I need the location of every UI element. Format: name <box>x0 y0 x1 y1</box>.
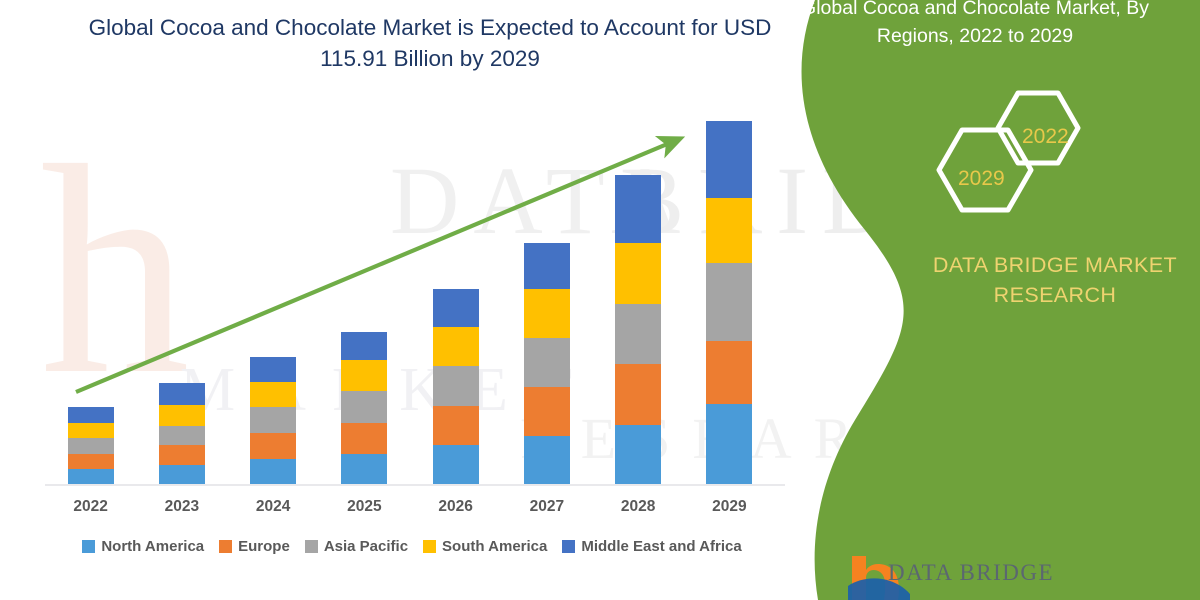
bar-2023[interactable] <box>159 383 205 485</box>
legend-swatch-icon <box>82 540 95 553</box>
segment-asia-pacific[interactable] <box>159 426 205 446</box>
legend-item-south-america[interactable]: South America <box>423 538 547 555</box>
legend-label: Europe <box>238 538 290 555</box>
bar-2028[interactable] <box>615 175 661 485</box>
segment-north-america[interactable] <box>341 454 387 485</box>
segment-south-america[interactable] <box>250 382 296 407</box>
x-axis-line <box>45 484 785 486</box>
segment-europe[interactable] <box>615 364 661 424</box>
segment-europe[interactable] <box>250 433 296 459</box>
hexagon-pair <box>920 85 1120 225</box>
segment-south-america[interactable] <box>706 198 752 264</box>
bar-2025[interactable] <box>341 332 387 485</box>
segment-north-america[interactable] <box>159 465 205 485</box>
segment-north-america[interactable] <box>250 459 296 485</box>
bar-2022[interactable] <box>68 407 114 485</box>
segment-south-america[interactable] <box>524 289 570 338</box>
legend-label: Middle East and Africa <box>581 538 741 555</box>
segment-asia-pacific[interactable] <box>68 438 114 454</box>
legend-item-asia-pacific[interactable]: Asia Pacific <box>305 538 408 555</box>
segment-north-america[interactable] <box>615 425 661 485</box>
segment-europe[interactable] <box>524 387 570 436</box>
segment-europe[interactable] <box>159 445 205 465</box>
segment-asia-pacific[interactable] <box>706 263 752 341</box>
segment-middle-east-and-africa[interactable] <box>341 332 387 360</box>
legend-swatch-icon <box>305 540 318 553</box>
segment-europe[interactable] <box>341 423 387 454</box>
x-label-2026: 2026 <box>416 498 496 516</box>
segment-asia-pacific[interactable] <box>341 391 387 422</box>
chart-legend: North AmericaEuropeAsia PacificSouth Ame… <box>42 538 782 555</box>
segment-north-america[interactable] <box>706 404 752 485</box>
legend-label: South America <box>442 538 547 555</box>
bar-2029[interactable] <box>706 121 752 485</box>
segment-south-america[interactable] <box>615 243 661 303</box>
segment-north-america[interactable] <box>433 445 479 485</box>
segment-south-america[interactable] <box>341 360 387 391</box>
segment-europe[interactable] <box>706 341 752 404</box>
legend-swatch-icon <box>219 540 232 553</box>
segment-asia-pacific[interactable] <box>524 338 570 387</box>
segment-middle-east-and-africa[interactable] <box>250 357 296 382</box>
x-label-2024: 2024 <box>233 498 313 516</box>
legend-item-north-america[interactable]: North America <box>82 538 204 555</box>
x-label-2023: 2023 <box>142 498 222 516</box>
segment-asia-pacific[interactable] <box>250 407 296 433</box>
segment-south-america[interactable] <box>159 405 205 426</box>
legend-label: North America <box>101 538 204 555</box>
hexagon-2029-label: 2029 <box>958 167 1005 191</box>
segment-middle-east-and-africa[interactable] <box>615 175 661 244</box>
bar-2027[interactable] <box>524 243 570 485</box>
segment-middle-east-and-africa[interactable] <box>68 407 114 423</box>
x-label-2027: 2027 <box>507 498 587 516</box>
segment-europe[interactable] <box>68 454 114 470</box>
x-label-2022: 2022 <box>51 498 131 516</box>
bar-2026[interactable] <box>433 289 479 485</box>
panel-heading: Global Cocoa and Chocolate Market, By Re… <box>775 0 1175 50</box>
segment-europe[interactable] <box>433 406 479 446</box>
segment-middle-east-and-africa[interactable] <box>706 121 752 197</box>
segment-middle-east-and-africa[interactable] <box>433 289 479 327</box>
segment-asia-pacific[interactable] <box>615 304 661 364</box>
bar-2024[interactable] <box>250 357 296 485</box>
legend-swatch-icon <box>562 540 575 553</box>
legend-item-middle-east-and-africa[interactable]: Middle East and Africa <box>562 538 741 555</box>
segment-south-america[interactable] <box>433 327 479 367</box>
legend-label: Asia Pacific <box>324 538 408 555</box>
segment-middle-east-and-africa[interactable] <box>159 383 205 405</box>
segment-south-america[interactable] <box>68 423 114 439</box>
x-label-2028: 2028 <box>598 498 678 516</box>
bars-container <box>45 110 775 485</box>
segment-asia-pacific[interactable] <box>433 366 479 406</box>
segment-north-america[interactable] <box>68 469 114 485</box>
x-label-2025: 2025 <box>324 498 404 516</box>
legend-swatch-icon <box>423 540 436 553</box>
segment-north-america[interactable] <box>524 436 570 485</box>
segment-middle-east-and-africa[interactable] <box>524 243 570 289</box>
logo-wordmark: DATA BRIDGE <box>888 560 1054 586</box>
infographic-canvas: h DATA BRIDGE MARKET RESEARCH Global Coc… <box>0 0 1200 600</box>
legend-item-europe[interactable]: Europe <box>219 538 290 555</box>
stacked-bar-chart: 20222023202420252026202720282029 <box>0 0 800 600</box>
x-label-2029: 2029 <box>689 498 769 516</box>
hexagon-2022-label: 2022 <box>1022 125 1069 149</box>
brand-name: DATA BRIDGE MARKET RESEARCH <box>900 250 1200 310</box>
